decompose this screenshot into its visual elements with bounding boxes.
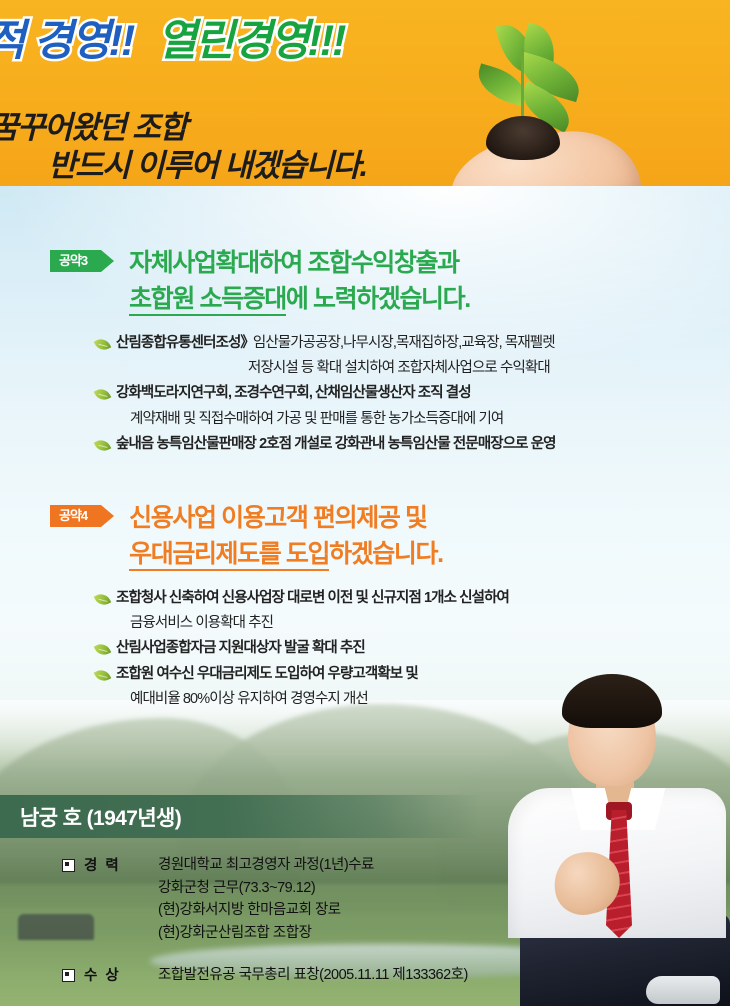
list-item: 조합원 여수신 우대금리제도 도입하여 우량고객확보 및 bbox=[116, 663, 730, 686]
profile-details: 경 력 경원대학교 최고경영자 과정(1년)수료 강화군청 근무(73.3~79… bbox=[62, 854, 730, 987]
bullet-strong: 조합청사 신축하여 신용사업장 대로변 이전 및 신규지점 1개소 신설하여 bbox=[116, 590, 509, 606]
pledge-4-headlines: 신용사업 이용고객 편의제공 및 우대금리제도를 도입하겠습니다. bbox=[129, 500, 443, 573]
list-item: 산림종합유통센터조성》임산물가공공장,나무시장,목재집하장,교육장, 목재펠렛 bbox=[116, 332, 730, 355]
profile-value: 조합발전유공 국무총리 표창(2005.11.11 제133362호) bbox=[158, 964, 468, 987]
leaf-bullet-icon bbox=[94, 641, 112, 659]
pledge-3-headlines: 자체사업확대하여 조합수익창출과 초합원 소득증대에 노력하겠습니다. bbox=[129, 245, 470, 318]
profile-value: (현)강화군산림조합 조합장 bbox=[158, 922, 374, 945]
pledge-4-headline-line1: 신용사업 이용고객 편의제공 및 bbox=[129, 500, 443, 536]
pledge-3-headline-line1: 자체사업확대하여 조합수익창출과 bbox=[129, 245, 470, 281]
profile-row-award: 수 상 조합발전유공 국무총리 표창(2005.11.11 제133362호) bbox=[62, 964, 730, 987]
profile-value: 경원대학교 최고경영자 과정(1년)수료 bbox=[158, 854, 374, 877]
bullet-subline: 계약재배 및 직접수매하여 가공 및 판매를 통한 농가소득증대에 기여 bbox=[116, 408, 730, 431]
profile-value: (현)강화서지방 한마음교회 장로 bbox=[158, 899, 374, 922]
pledge-section-4: 공약4 신용사업 이용고객 편의제공 및 우대금리제도를 도입하겠습니다. 조합… bbox=[0, 500, 730, 714]
profile-row-career: 경 력 경원대학교 최고경영자 과정(1년)수료 강화군청 근무(73.3~79… bbox=[62, 854, 730, 944]
list-item: 강화백도라지연구회, 조경수연구회, 산채임산물생산자 조직 결성 bbox=[116, 382, 730, 405]
profile-label-award: 수 상 bbox=[84, 964, 158, 985]
list-item: 산림사업종합자금 지원대상자 발굴 확대 추진 bbox=[116, 637, 730, 660]
list-item: 조합청사 신축하여 신용사업장 대로변 이전 및 신규지점 1개소 신설하여 bbox=[116, 587, 730, 610]
bullet-strong: 조합원 여수신 우대금리제도 도입하여 우량고객확보 및 bbox=[116, 666, 418, 682]
list-item: 숲내음 농특임산물판매장 2호점 개설로 강화관내 농특임산물 전문매장으로 운… bbox=[116, 433, 730, 456]
pledge-4-bullets: 조합청사 신축하여 신용사업장 대로변 이전 및 신규지점 1개소 신설하여 금… bbox=[116, 587, 730, 712]
profile-label-career: 경 력 bbox=[84, 854, 158, 875]
leaf-bullet-icon bbox=[94, 335, 112, 353]
pledge-4-headline-line2: 우대금리제도를 도입하겠습니다. bbox=[129, 536, 443, 572]
bullet-subline: 저장시설 등 확대 설치하여 조합자체사업으로 수익확대 bbox=[116, 357, 730, 380]
pledge-3-bullets: 산림종합유통센터조성》임산물가공공장,나무시장,목재집하장,교육장, 목재펠렛 … bbox=[116, 332, 730, 457]
bullet-strong: 산림사업종합자금 지원대상자 발굴 확대 추진 bbox=[116, 640, 365, 656]
candidate-profile: 남궁 호 (1947년생) 경 력 경원대학교 최고경영자 과정(1년)수료 강… bbox=[0, 795, 730, 991]
candidate-name-banner: 남궁 호 (1947년생) bbox=[0, 795, 480, 838]
pledge-4-headline-rest: 하겠습니다. bbox=[329, 540, 443, 568]
profile-values-career: 경원대학교 최고경영자 과정(1년)수료 강화군청 근무(73.3~79.12)… bbox=[158, 854, 374, 944]
bullet-text: 임산물가공공장,나무시장,목재집하장,교육장, 목재펠렛 bbox=[253, 335, 555, 351]
poster-content: 공약3 자체사업확대하여 조합수익창출과 초합원 소득증대에 노력하겠습니다. … bbox=[0, 0, 730, 1006]
pledge-3-headline-rest: 에 노력하겠습니다. bbox=[286, 285, 470, 313]
bullet-strong: 산림종합유통센터조성 bbox=[116, 335, 240, 351]
pledge-3-header: 공약3 자체사업확대하여 조합수익창출과 초합원 소득증대에 노력하겠습니다. bbox=[0, 245, 730, 318]
bullet-strong: 강화백도라지연구회, 조경수연구회, 산채임산물생산자 조직 결성 bbox=[116, 385, 471, 401]
leaf-bullet-icon bbox=[94, 667, 112, 685]
pledge-3-headline-underlined: 초합원 소득증대 bbox=[129, 285, 286, 316]
profile-value: 강화군청 근무(73.3~79.12) bbox=[158, 877, 374, 900]
profile-spacer bbox=[62, 948, 730, 964]
bullet-subline: 예대비율 80%이상 유지하여 경영수지 개선 bbox=[116, 688, 730, 711]
bullet-subline: 금융서비스 이용확대 추진 bbox=[116, 612, 730, 635]
leaf-bullet-icon bbox=[94, 386, 112, 404]
pledge-section-3: 공약3 자체사업확대하여 조합수익창출과 초합원 소득증대에 노력하겠습니다. … bbox=[0, 245, 730, 459]
square-bullet-icon bbox=[62, 859, 75, 872]
bullet-chevron-icon: 》 bbox=[240, 335, 253, 351]
pledge-3-headline-line2: 초합원 소득증대에 노력하겠습니다. bbox=[129, 281, 470, 317]
pledge-3-badge: 공약3 bbox=[50, 250, 101, 272]
square-bullet-icon bbox=[62, 969, 75, 982]
leaf-bullet-icon bbox=[94, 590, 112, 608]
campaign-poster: 적 경영!!열린경영!!! 꿈꾸어왔던 조합 반드시 이루어 내겠습니다. bbox=[0, 0, 730, 1006]
pledge-4-badge: 공약4 bbox=[50, 505, 101, 527]
pledge-4-header: 공약4 신용사업 이용고객 편의제공 및 우대금리제도를 도입하겠습니다. bbox=[0, 500, 730, 573]
profile-values-award: 조합발전유공 국무총리 표창(2005.11.11 제133362호) bbox=[158, 964, 468, 987]
bullet-strong: 숲내음 농특임산물판매장 2호점 개설로 강화관내 농특임산물 전문매장으로 운… bbox=[116, 436, 556, 452]
candidate-name: 남궁 호 (1947년생) bbox=[20, 802, 181, 832]
leaf-bullet-icon bbox=[94, 437, 112, 455]
pledge-4-headline-underlined: 우대금리제도를 도입 bbox=[129, 540, 329, 571]
